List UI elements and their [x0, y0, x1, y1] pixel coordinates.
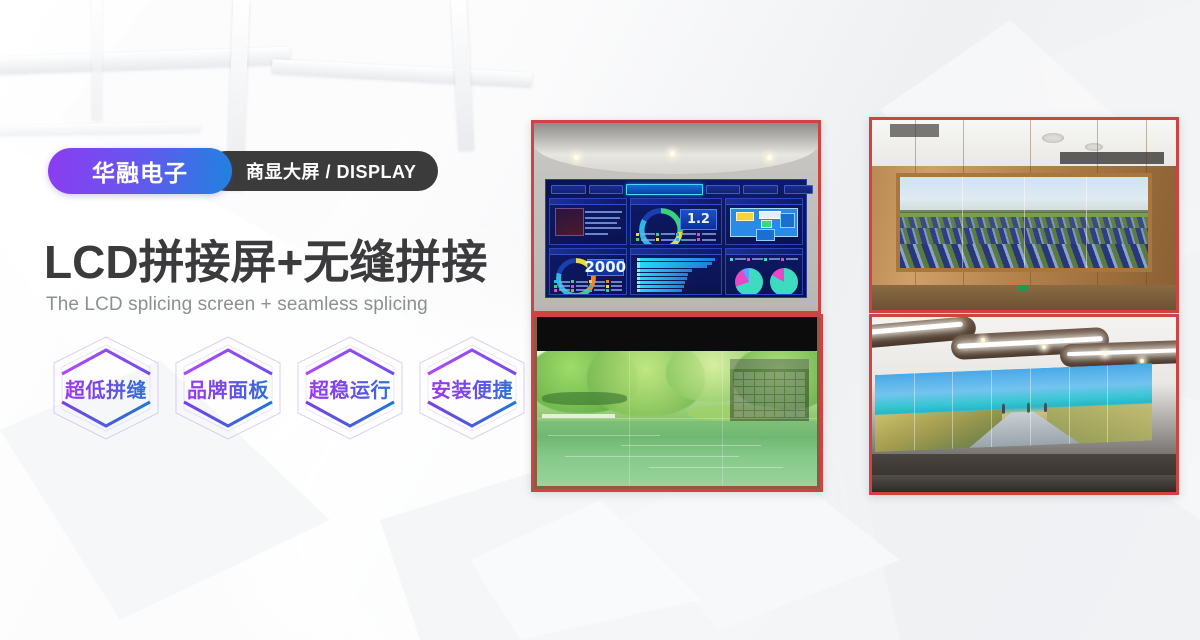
- kpi-primary: 2000: [584, 258, 626, 276]
- solar-farm-screen: [896, 173, 1151, 272]
- feature-badge-label: 超稳运行: [309, 374, 391, 403]
- photo-willow-lake-video-wall[interactable]: [531, 314, 823, 492]
- feature-badge[interactable]: 安装便捷: [414, 334, 530, 442]
- photo-dashboard-video-wall[interactable]: 1.2: [531, 120, 821, 314]
- photo-beach-boardwalk-video-wall[interactable]: [869, 314, 1179, 495]
- feature-badge-label: 超低拼缝: [65, 374, 147, 403]
- beach-boardwalk-screen: [875, 363, 1152, 452]
- page-subtitle: The LCD splicing screen + seamless splic…: [46, 294, 428, 316]
- calendar-overlay: [730, 359, 808, 421]
- photo-solar-farm-video-wall[interactable]: [869, 117, 1179, 313]
- willow-lake-screen: [537, 351, 817, 485]
- feature-badge[interactable]: 品牌面板: [170, 334, 286, 442]
- category-badge[interactable]: 商显大屏 / DISPLAY: [206, 151, 438, 191]
- dashboard-screen: 1.2: [545, 179, 806, 297]
- brand-badge[interactable]: 华融电子: [48, 148, 232, 194]
- kpi-secondary: 1.2: [687, 212, 710, 227]
- feature-badge-label: 品牌面板: [187, 374, 269, 403]
- product-banner: 华融电子 商显大屏 / DISPLAY LCD拼接屏+无缝拼接 The LCD …: [0, 0, 1200, 640]
- feature-badge-label: 安装便捷: [431, 374, 513, 403]
- feature-badge-list: 超低拼缝 品牌面板 超稳运行: [48, 334, 530, 442]
- badge-row: 华融电子 商显大屏 / DISPLAY: [48, 148, 438, 194]
- page-title: LCD拼接屏+无缝拼接: [44, 226, 487, 292]
- feature-badge[interactable]: 超低拼缝: [48, 334, 164, 442]
- feature-badge[interactable]: 超稳运行: [292, 334, 408, 442]
